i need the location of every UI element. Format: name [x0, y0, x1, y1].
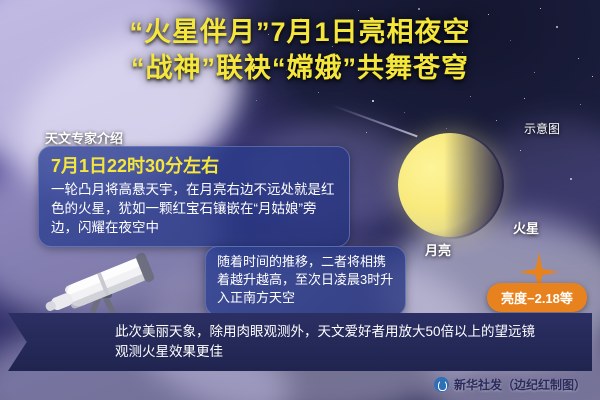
page-title: “火星伴月”7月1日亮相夜空 “战神”联袂“嫦娥”共舞苍穹: [0, 14, 600, 86]
expert-intro-label: 天文专家介绍: [45, 128, 123, 147]
credit-line: 新华社发（边纪红制图）: [434, 376, 586, 393]
secondary-info-box: 随着时间的推移，二者将相携着越升越高，至次日凌晨3时升入正南方天空: [205, 246, 406, 316]
ribbon-text: 此次美丽天象，除用肉眼观测外，天文爱好者用放大50倍以上的望远镜观测火星效果更佳: [115, 322, 545, 362]
gibbous-moon-icon: [398, 133, 502, 237]
title-line-1: “火星伴月”7月1日亮相夜空: [0, 14, 600, 50]
title-line-2: “战神”联袂“嫦娥”共舞苍穹: [0, 50, 600, 86]
mars-label: 火星: [513, 218, 539, 237]
main-info-body: 一轮凸月将高悬天宇，在月亮右边不远处就是红色的火星，犹如一颗红宝石镶嵌在“月姑娘…: [51, 180, 337, 237]
main-info-heading: 7月1日22时30分左右: [51, 154, 337, 178]
moon-label: 月亮: [425, 240, 451, 259]
main-info-box: 7月1日22时30分左右 一轮凸月将高悬天宇，在月亮右边不远处就是红色的火星，犹…: [38, 146, 350, 247]
infographic-poster: “火星伴月”7月1日亮相夜空 “战神”联袂“嫦娥”共舞苍穹 示意图 月亮 火星 …: [0, 0, 600, 400]
secondary-info-body: 随着时间的推移，二者将相携着越升越高，至次日凌晨3时升入正南方天空: [217, 253, 394, 307]
brightness-badge: 亮度−2.18等: [487, 283, 587, 312]
credit-text: 新华社发（边纪红制图）: [454, 376, 586, 393]
schematic-label: 示意图: [524, 120, 560, 137]
xinhua-logo-icon: [434, 377, 449, 392]
